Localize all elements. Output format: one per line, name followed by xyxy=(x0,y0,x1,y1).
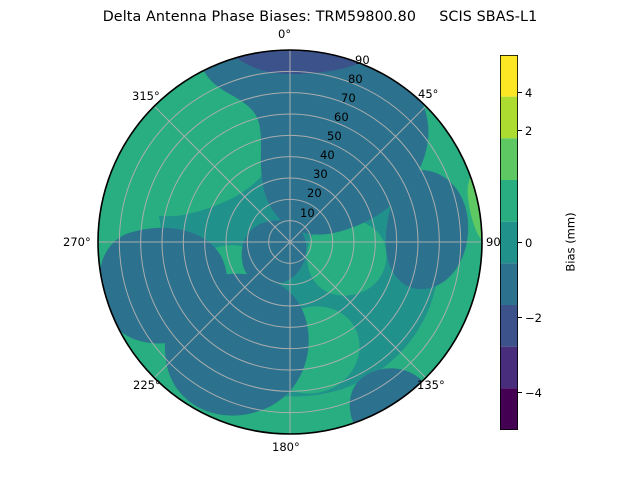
angular-tick-270: 270° xyxy=(63,235,91,249)
colorbar-tick-label-neg4: −4 xyxy=(525,386,542,400)
radial-tick-80: 80 xyxy=(348,72,363,86)
polar-plot: 0° 45° 90° 135° 180° 225° 270° 315° 10 2… xyxy=(0,0,640,480)
colorbar xyxy=(500,55,518,430)
colorbar-tickmark-4 xyxy=(518,92,522,93)
radial-tick-20: 20 xyxy=(307,186,322,200)
radial-tick-90: 90 xyxy=(355,53,370,67)
colorbar-tick-label-4: 4 xyxy=(525,86,532,100)
radial-tick-50: 50 xyxy=(327,129,342,143)
radial-tick-10: 10 xyxy=(300,206,315,220)
colorbar-band-0 xyxy=(500,388,518,430)
radial-tick-70: 70 xyxy=(341,91,356,105)
angular-tick-180: 180° xyxy=(272,440,300,454)
colorbar-band-5 xyxy=(500,180,518,222)
colorbar-tickmark-neg2 xyxy=(518,317,522,318)
colorbar-tick-label-0: 0 xyxy=(525,236,532,250)
angular-tick-45: 45° xyxy=(418,87,438,101)
radial-tick-60: 60 xyxy=(334,110,349,124)
colorbar-band-7 xyxy=(500,97,518,139)
colorbar-axis-label: Bias (mm) xyxy=(563,212,577,271)
colorbar-band-8 xyxy=(500,55,518,97)
colorbar-tickmark-0 xyxy=(518,242,522,243)
colorbar-tick-label-2: 2 xyxy=(525,124,532,138)
angular-tick-315: 315° xyxy=(132,89,160,103)
radial-tick-40: 40 xyxy=(320,148,335,162)
colorbar-tickmark-2 xyxy=(518,130,522,131)
polar-contour-svg xyxy=(0,0,640,480)
angular-tick-135: 135° xyxy=(417,378,445,392)
angular-tick-225: 225° xyxy=(133,378,161,392)
radial-tick-30: 30 xyxy=(313,167,328,181)
colorbar-band-1 xyxy=(500,347,518,389)
figure-canvas: Delta Antenna Phase Biases: TRM59800.80 … xyxy=(0,0,640,480)
colorbar-band-6 xyxy=(500,138,518,180)
colorbar-band-3 xyxy=(500,263,518,305)
colorbar-gradient xyxy=(500,55,518,430)
colorbar-tickmark-neg4 xyxy=(518,392,522,393)
colorbar-band-2 xyxy=(500,305,518,347)
angular-tick-0: 0° xyxy=(278,27,291,41)
colorbar-tick-label-neg2: −2 xyxy=(525,311,542,325)
polar-grid xyxy=(98,50,482,434)
colorbar-band-4 xyxy=(500,222,518,264)
